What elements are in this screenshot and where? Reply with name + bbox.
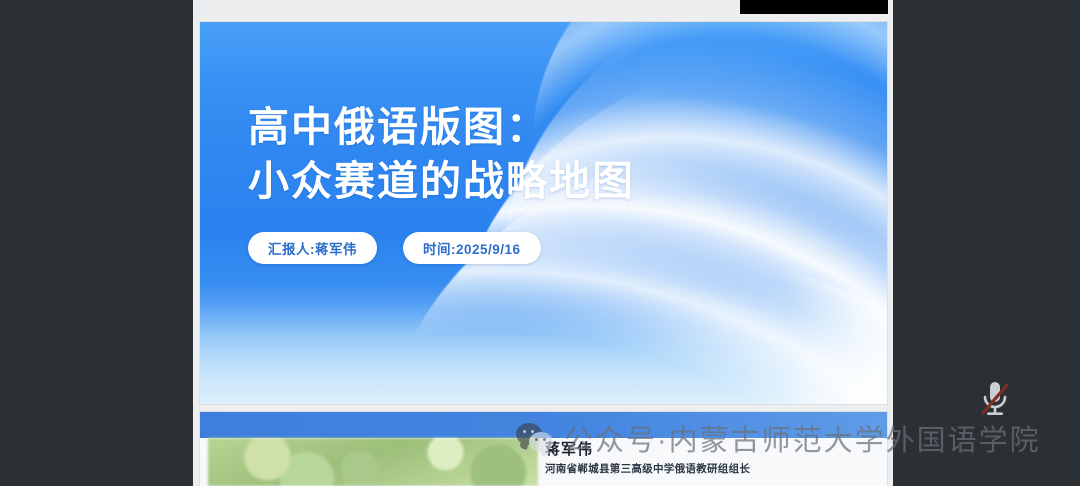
presenter-name: 蒋军伟 [545, 442, 750, 459]
presenter-photo [208, 438, 538, 486]
app-window: 高中俄语版图： 小众赛道的战略地图 汇报人:蒋军伟 时间:2025/9/16 蒋… [0, 0, 1080, 486]
slide-title-line-2: 小众赛道的战略地图 [248, 154, 635, 208]
black-bar [740, 0, 888, 14]
slide-presenter[interactable]: 蒋军伟 河南省郸城县第三高级中学俄语教研组组长 [200, 412, 887, 486]
date-badge: 时间:2025/9/16 [403, 232, 541, 264]
microphone-muted-icon[interactable] [978, 378, 1012, 422]
left-dark-panel [0, 0, 193, 486]
presenter-title: 河南省郸城县第三高级中学俄语教研组组长 [545, 461, 750, 476]
slide-title-line-1: 高中俄语版图： [248, 100, 635, 154]
presenter-info: 蒋军伟 河南省郸城县第三高级中学俄语教研组组长 [545, 442, 750, 476]
slide-title-text: 高中俄语版图： 小众赛道的战略地图 [248, 100, 635, 208]
slide-scroll-area[interactable]: 高中俄语版图： 小众赛道的战略地图 汇报人:蒋军伟 时间:2025/9/16 蒋… [193, 0, 893, 486]
slide-header-band [200, 412, 887, 438]
slide-bottom-haze [200, 284, 887, 404]
slide-badge-group: 汇报人:蒋军伟 时间:2025/9/16 [248, 232, 541, 264]
slide-title[interactable]: 高中俄语版图： 小众赛道的战略地图 汇报人:蒋军伟 时间:2025/9/16 [200, 22, 887, 404]
presenter-badge: 汇报人:蒋军伟 [248, 232, 377, 264]
